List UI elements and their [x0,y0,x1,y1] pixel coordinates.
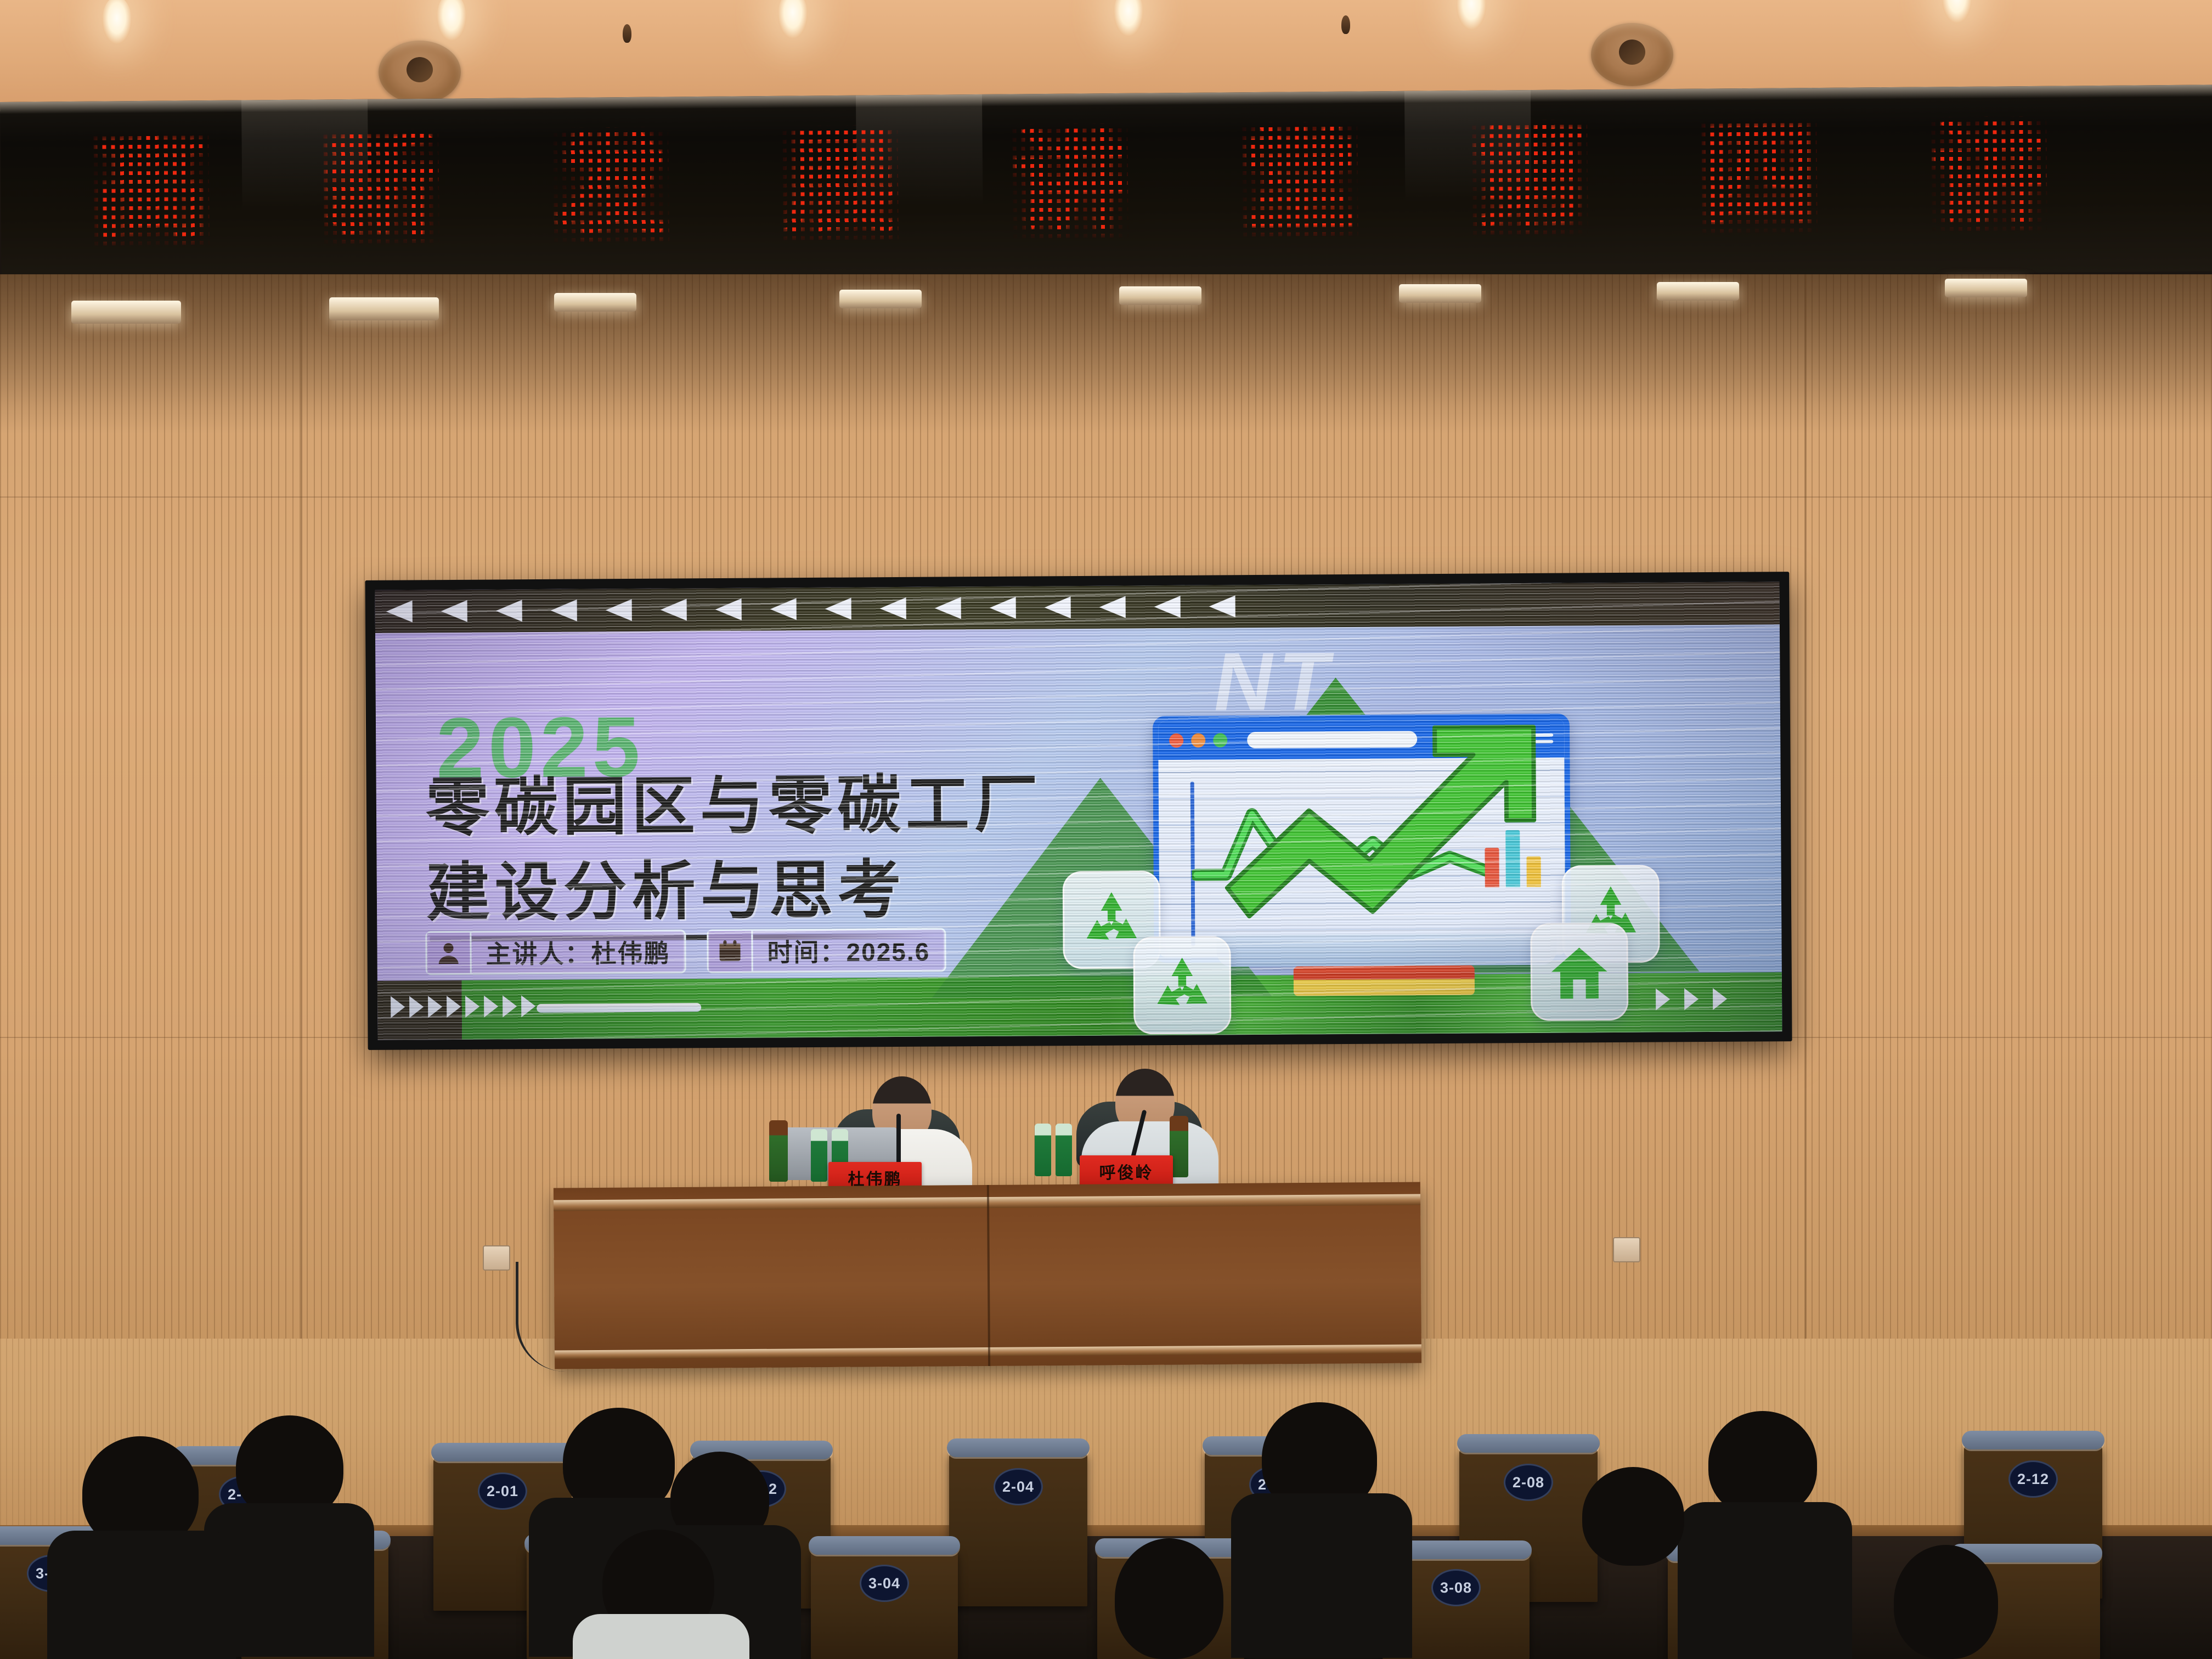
led-char-8: 讲 [1931,116,2047,232]
spotlight-can-1 [379,41,461,104]
seat-cushion [1457,1434,1600,1453]
bottom-arrow-3 [447,996,461,1018]
bottom-arrow-1 [409,996,424,1018]
sprinkler-2 [1341,15,1350,34]
speaker-label: 主讲人：杜伟鹏 [471,933,684,970]
bar-2 [1505,830,1520,887]
wall-wash-light-1 [71,301,181,324]
wall-seam-2 [1805,274,1807,1377]
seat-number-badge: 3-04 [860,1565,909,1602]
slide-canvas: NT [375,582,1782,1040]
top-arrow-0 [386,600,413,622]
slide-meta-row: 主讲人：杜伟鹏 时间：2025.6 [425,928,946,975]
led-char-5: 堂 [1242,122,1358,237]
speaker-chip: 主讲人：杜伟鹏 [425,929,686,975]
bottom-arrow-2 [428,996,442,1018]
slide-illustration: NT [1050,592,1782,1025]
sprinkler-1 [623,24,631,43]
audience-head-9 [1894,1545,1998,1659]
head-table-seam [987,1185,990,1366]
browser-dot-orange [1191,733,1205,748]
seat-cushion [431,1443,574,1462]
led-char-3: 展 [783,125,899,240]
wall-wash-light-4 [1119,286,1201,305]
spotlight-can-2 [1591,23,1673,86]
bottom-arrow-5 [484,995,498,1017]
bottom-arrow-4 [465,996,479,1018]
bottom-arrow-7 [521,995,535,1017]
top-arrow-5 [661,599,687,620]
seat-3-04[interactable]: 3-04 [811,1550,958,1659]
home-icon [1547,940,1611,1004]
recycle-icon [1149,952,1216,1018]
wall-wash-light-5 [1399,284,1481,303]
led-char-4: 讲 [1012,123,1128,239]
seat-cushion [1962,1431,2104,1449]
wall-wash-light-6 [1657,282,1739,301]
slide-title: 零碳园区与零碳工厂 建设分析与思考 [425,761,1043,936]
laptop-base [1216,933,1556,967]
top-arrow-7 [770,598,797,620]
led-char-2: 发 [553,127,669,242]
audience-body-6 [47,1531,236,1659]
audience-body-4 [1231,1493,1412,1658]
wall-wash-light-7 [1945,279,2027,297]
recycle-icon [1079,887,1145,953]
led-char-6: 第 [1472,120,1588,235]
seat-number-badge: 2-08 [1504,1464,1553,1501]
seat-number-badge: 2-01 [478,1472,527,1510]
auditorium-scene: 高 新 发 展 讲 堂 第 四 讲 NT [0,0,2212,1659]
led-char-1: 新 [323,129,439,244]
home-badge [1530,923,1628,1021]
wall-wash-light-3 [839,290,922,308]
led-presentation-screen[interactable]: NT [365,572,1792,1050]
top-arrow-4 [606,599,632,621]
audience-body-7 [573,1614,749,1659]
bar-3 [1527,856,1541,887]
seat-number-badge: 2-04 [994,1468,1043,1505]
nameplate-right: 呼俊岭 [1080,1155,1173,1187]
tea-cup-left [769,1120,788,1182]
person-icon [427,933,471,973]
top-arrow-8 [825,598,851,620]
water-bottle-1 [811,1129,827,1182]
browser-dot-red [1169,733,1183,748]
bottom-progress-bar [537,1003,701,1013]
bottom-arrow-0 [391,996,405,1018]
calendar-icon [708,931,753,972]
led-banner-text: 高 新 发 展 讲 堂 第 四 讲 [93,105,2047,257]
date-label: 时间：2025.6 [753,932,944,969]
bottom-arrow-6 [503,995,517,1017]
up-arrow-icon [1215,721,1556,921]
slide-title-line-2: 建设分析与思考 [426,847,1043,936]
bar-1 [1485,848,1499,887]
top-arrow-3 [551,600,577,622]
audience-head-8 [1115,1538,1223,1659]
top-arrow-9 [880,597,906,619]
wall-wash-light-2 [554,293,636,312]
seat-2-04[interactable]: 2-04 [949,1453,1087,1606]
slide-title-line-1: 零碳园区与零碳工厂 [425,761,1043,850]
seat-cushion [809,1536,960,1555]
wall-outlet-2 [1613,1237,1640,1262]
seat-number-badge: 3-08 [1431,1569,1481,1606]
wall-outlet-1 [483,1245,510,1271]
bar-chart-icon [1485,830,1541,888]
top-arrow-11 [990,597,1016,619]
wall-seam-1 [301,274,302,1377]
wall-horizontal-seam-1 [0,496,2212,498]
audience-head-5 [1708,1411,1817,1516]
head-table [554,1182,1421,1369]
top-arrow-10 [935,597,961,619]
water-bottle-3 [1035,1124,1051,1176]
seat-cushion [947,1438,1090,1457]
top-arrow-2 [496,600,522,622]
seat-number-badge: 2-12 [2008,1460,2058,1498]
led-banner: 高 新 发 展 讲 堂 第 四 讲 [0,84,2212,289]
top-arrow-6 [715,599,742,620]
top-arrow-1 [441,600,467,622]
audience-body-5 [1678,1502,1852,1659]
led-char-7: 四 [1702,118,1818,233]
wall-wash-light-8 [329,297,439,320]
audience-head-10 [1582,1467,1684,1566]
date-chip: 时间：2025.6 [707,928,946,973]
laptop-foot [1294,966,1475,996]
led-char-0: 高 [93,131,210,246]
recycle-badge-bottom [1133,936,1231,1034]
water-bottle-4 [1056,1124,1072,1176]
audience-seating: 2-03 2-01 2-02 2-04 2-06 2-08 2-12 [0,1421,2212,1659]
